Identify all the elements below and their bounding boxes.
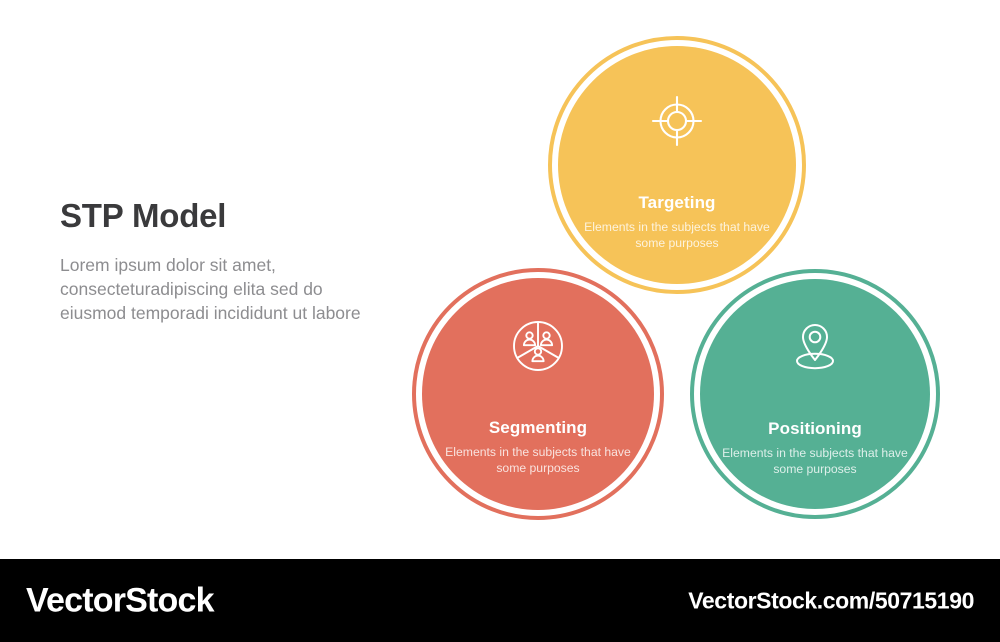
node-segmenting-title: Segmenting [489,419,587,436]
infographic-canvas: STP Model Lorem ipsum dolor sit amet, co… [0,0,1000,642]
node-positioning-disc: Positioning Elements in the subjects tha… [700,279,930,509]
node-targeting-title: Targeting [638,194,715,211]
node-targeting-description: Elements in the subjects that have some … [572,220,781,251]
footer-brand-logo: VectorStock [26,581,214,620]
page-title: STP Model [60,198,370,234]
node-segmenting[interactable]: Segmenting Elements in the subjects that… [412,268,664,520]
node-segmenting-disc: Segmenting Elements in the subjects that… [422,278,654,510]
node-positioning[interactable]: Positioning Elements in the subjects tha… [690,269,940,519]
footer-bar: VectorStock VectorStock.com/50715190 [0,559,1000,642]
target-icon [650,94,704,153]
people-segments-icon [510,318,566,379]
node-targeting[interactable]: Targeting Elements in the subjects that … [548,36,806,294]
page-subtitle: Lorem ipsum dolor sit amet, consectetura… [60,254,370,325]
location-pin-icon [787,319,843,380]
footer-url: VectorStock.com/50715190 [688,587,974,614]
node-positioning-title: Positioning [768,420,862,437]
intro-text-block: STP Model Lorem ipsum dolor sit amet, co… [60,198,370,326]
node-segmenting-description: Elements in the subjects that have some … [436,445,640,476]
node-targeting-disc: Targeting Elements in the subjects that … [558,46,796,284]
node-positioning-description: Elements in the subjects that have some … [714,446,916,477]
